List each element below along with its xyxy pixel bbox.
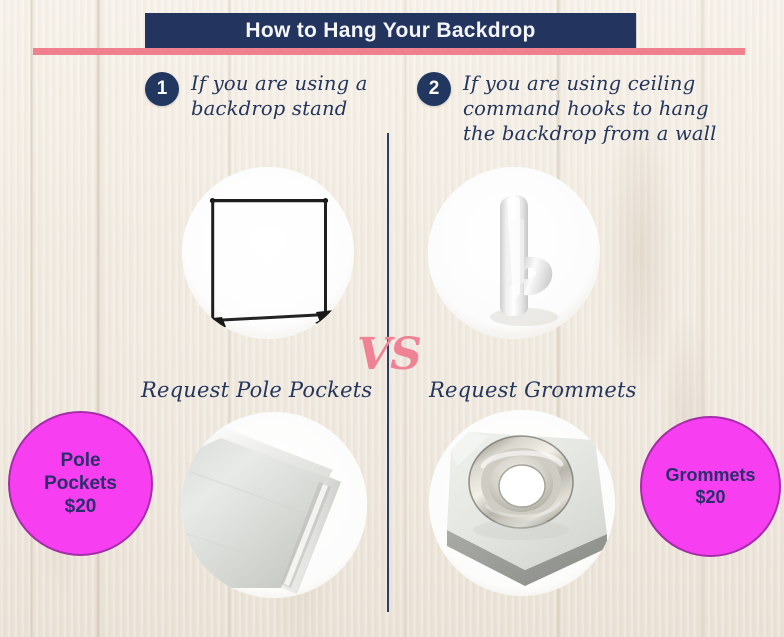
vs-label: VS xyxy=(352,333,426,377)
header-banner: How to Hang Your Backdrop xyxy=(145,13,636,48)
command-hook-icon xyxy=(428,167,600,339)
step-2-text: If you are using ceiling command hooks t… xyxy=(463,71,737,146)
step-1-text: If you are using a backdrop stand xyxy=(191,71,375,121)
grommets-badge-price: $20 xyxy=(695,487,725,509)
backdrop-stand-icon xyxy=(182,167,354,339)
pole-pockets-price-badge: Pole Pockets $20 xyxy=(8,411,153,556)
pole-pockets-badge-line-1: Pole xyxy=(60,449,100,472)
grommet-photo xyxy=(429,410,615,596)
pole-pocket-fabric-icon xyxy=(181,412,367,598)
pink-divider-rule xyxy=(33,48,745,55)
request-grommets-label: Request Grommets xyxy=(429,378,637,402)
step-1: 1 If you are using a backdrop stand xyxy=(145,71,375,121)
infographic-canvas: How to Hang Your Backdrop 1 If you are u… xyxy=(0,0,784,637)
step-1-number-badge: 1 xyxy=(145,72,179,106)
grommets-price-badge: Grommets $20 xyxy=(640,416,781,557)
step-2: 2 If you are using ceiling command hooks… xyxy=(417,71,737,146)
command-hook-photo xyxy=(428,167,600,339)
pole-pockets-badge-price: $20 xyxy=(65,495,97,518)
step-2-number-badge: 2 xyxy=(417,72,451,106)
pole-pocket-photo xyxy=(181,412,367,598)
page-title: How to Hang Your Backdrop xyxy=(245,19,535,43)
grommet-eyelet-icon xyxy=(429,410,615,596)
backdrop-stand-photo xyxy=(182,167,354,339)
grommets-badge-line-1: Grommets xyxy=(665,465,755,487)
pole-pockets-badge-line-2: Pockets xyxy=(44,472,117,495)
request-pole-pockets-label: Request Pole Pockets xyxy=(141,378,372,402)
